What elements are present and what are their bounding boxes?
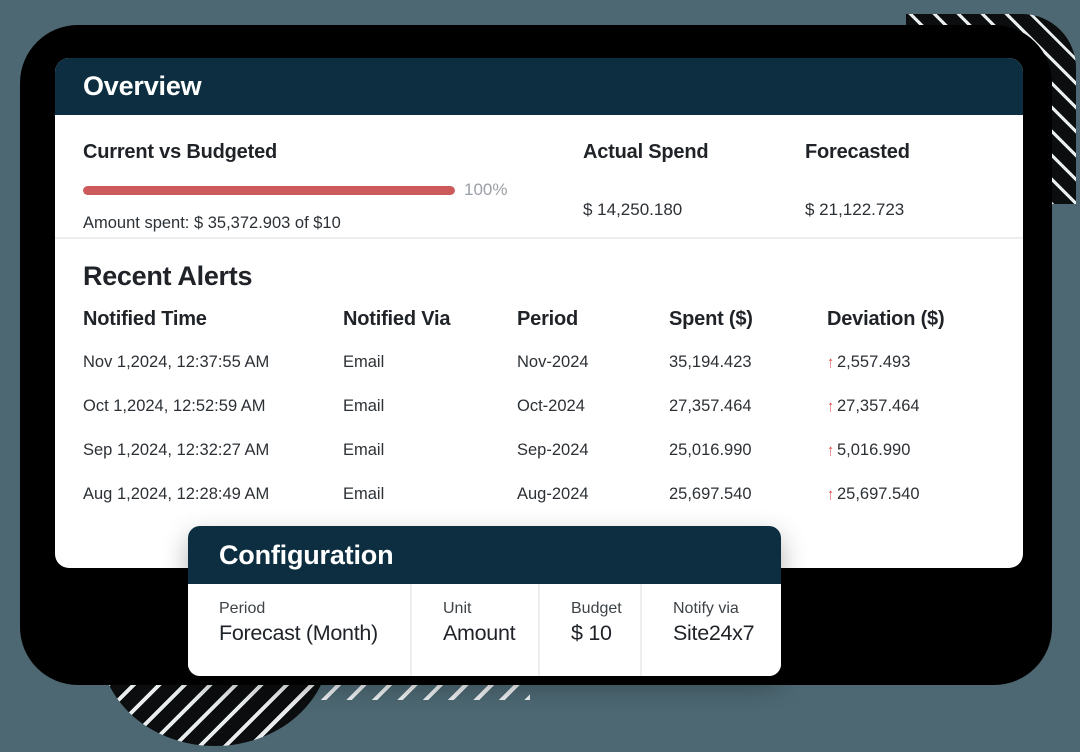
summary-forecasted: Forecasted $ 21,122.723 [805,141,995,237]
cell-spent: 25,697.540 [669,485,827,529]
deviation-value: 5,016.990 [837,441,910,459]
cell-spent: 35,194.423 [669,353,827,397]
page-title: Overview [83,71,201,102]
recent-alerts-section: Recent Alerts Notified Time Notified Via… [55,239,1023,529]
alerts-table-body: Nov 1,2024, 12:37:55 AMEmailNov-202435,1… [83,353,995,529]
config-value: Site24x7 [673,621,781,646]
table-row[interactable]: Sep 1,2024, 12:32:27 AMEmailSep-202425,0… [83,441,995,485]
table-row[interactable]: Nov 1,2024, 12:37:55 AMEmailNov-202435,1… [83,353,995,397]
cell-notified-time: Nov 1,2024, 12:37:55 AM [83,353,343,397]
budget-progress-percent: 100% [464,180,507,200]
actual-spend-value: $ 14,250.180 [583,200,805,220]
column-header-deviation: Deviation ($) [827,308,995,353]
cell-deviation: ↑27,357.464 [827,397,995,441]
column-header-period: Period [517,308,669,353]
forecasted-value: $ 21,122.723 [805,200,995,220]
cell-notified-via: Email [343,441,517,485]
alerts-table-head: Notified Time Notified Via Period Spent … [83,308,995,353]
configuration-card-header: Configuration [188,526,781,584]
overview-card: Overview Current vs Budgeted 100% Amount… [55,58,1023,568]
cell-notified-via: Email [343,353,517,397]
deviation-value: 27,357.464 [837,397,920,415]
config-label: Period [219,600,410,618]
arrow-up-icon: ↑ [827,485,834,503]
config-label: Notify via [673,600,781,618]
cell-period: Sep-2024 [517,441,669,485]
configuration-fields: PeriodForecast (Month)UnitAmountBudget$ … [188,584,781,676]
cell-deviation: ↑25,697.540 [827,485,995,529]
deviation-value: 2,557.493 [837,353,910,371]
config-label: Unit [443,600,538,618]
cell-spent: 25,016.990 [669,441,827,485]
column-header-notified-via: Notified Via [343,308,517,353]
cell-notified-time: Oct 1,2024, 12:52:59 AM [83,397,343,441]
config-label: Budget [571,600,640,618]
cell-deviation: ↑2,557.493 [827,353,995,397]
budget-progress-track [83,186,455,195]
cell-notified-via: Email [343,485,517,529]
actual-spend-title: Actual Spend [583,141,805,164]
summary-actual-spend: Actual Spend $ 14,250.180 [583,141,805,237]
arrow-up-icon: ↑ [827,441,834,459]
cell-deviation: ↑5,016.990 [827,441,995,485]
column-header-notified-time: Notified Time [83,308,343,353]
table-row[interactable]: Aug 1,2024, 12:28:49 AMEmailAug-202425,6… [83,485,995,529]
config-value: $ 10 [571,621,640,646]
alerts-header-row: Notified Time Notified Via Period Spent … [83,308,995,353]
config-value: Amount [443,621,538,646]
deviation-value: 25,697.540 [837,485,920,503]
cell-notified-via: Email [343,397,517,441]
current-vs-budgeted-title: Current vs Budgeted [83,141,583,164]
config-field-notify-via[interactable]: Notify viaSite24x7 [642,584,781,676]
summary-row: Current vs Budgeted 100% Amount spent: $… [55,115,1023,237]
table-row[interactable]: Oct 1,2024, 12:52:59 AMEmailOct-202427,3… [83,397,995,441]
configuration-title: Configuration [219,540,393,571]
amount-spent-text: Amount spent: $ 35,372.903 of $10 [83,214,583,233]
recent-alerts-title: Recent Alerts [83,261,995,292]
cell-notified-time: Sep 1,2024, 12:32:27 AM [83,441,343,485]
configuration-card: Configuration PeriodForecast (Month)Unit… [188,526,781,676]
cell-notified-time: Aug 1,2024, 12:28:49 AM [83,485,343,529]
cell-spent: 27,357.464 [669,397,827,441]
arrow-up-icon: ↑ [827,353,834,371]
forecasted-title: Forecasted [805,141,995,164]
config-field-period[interactable]: PeriodForecast (Month) [188,584,412,676]
config-field-budget[interactable]: Budget$ 10 [540,584,642,676]
recent-alerts-table: Notified Time Notified Via Period Spent … [83,308,995,529]
arrow-up-icon: ↑ [827,397,834,415]
budget-progress-fill [83,186,455,195]
cell-period: Oct-2024 [517,397,669,441]
cell-period: Aug-2024 [517,485,669,529]
budget-progress-row: 100% [83,180,583,200]
config-field-unit[interactable]: UnitAmount [412,584,540,676]
summary-current-vs-budgeted: Current vs Budgeted 100% Amount spent: $… [83,141,583,237]
column-header-spent: Spent ($) [669,308,827,353]
cell-period: Nov-2024 [517,353,669,397]
config-value: Forecast (Month) [219,621,410,646]
overview-card-header: Overview [55,58,1023,115]
